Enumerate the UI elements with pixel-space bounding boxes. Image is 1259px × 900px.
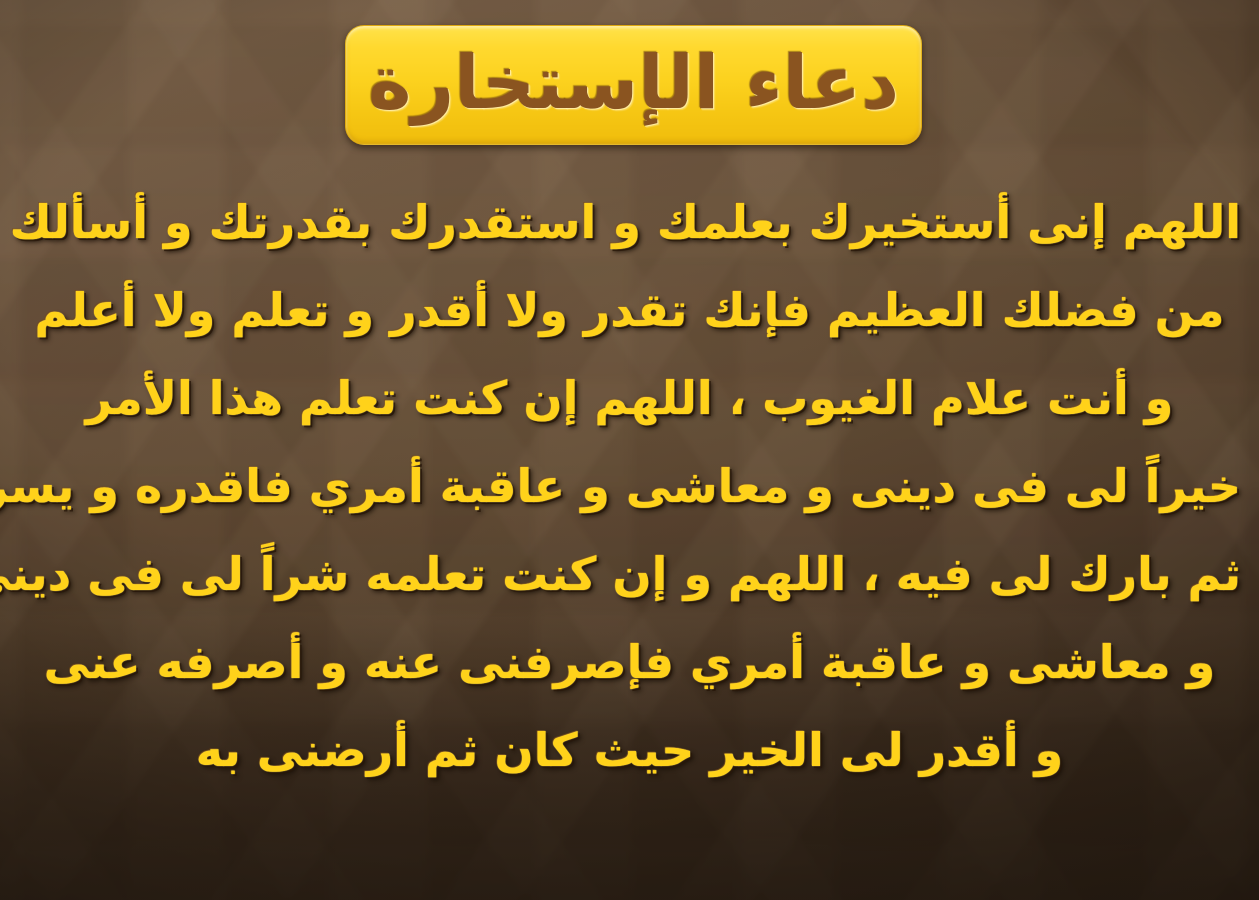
prayer-body: اللهم إنى أستخيرك بعلمك و استقدرك بقدرتك… — [0, 178, 1259, 794]
prayer-line: و أقدر لى الخير حيث كان ثم أرضنى به — [18, 706, 1241, 794]
card-content: دعاء الإستخارة اللهم إنى أستخيرك بعلمك و… — [0, 0, 1259, 900]
prayer-line: من فضلك العظيم فإنك تقدر ولا أقدر و تعلم… — [18, 266, 1241, 354]
prayer-line: و معاشى و عاقبة أمري فإصرفنى عنه و أصرفه… — [18, 618, 1241, 706]
prayer-line: ثم بارك لى فيه ، اللهم و إن كنت تعلمه شر… — [18, 530, 1241, 618]
prayer-line: اللهم إنى أستخيرك بعلمك و استقدرك بقدرتك… — [18, 178, 1241, 266]
page-title: دعاء الإستخارة — [368, 46, 899, 120]
title-badge: دعاء الإستخارة — [345, 25, 922, 145]
prayer-line: خيراً لى فى دينى و معاشى و عاقبة أمري فا… — [18, 442, 1241, 530]
prayer-line: و أنت علام الغيوب ، اللهم إن كنت تعلم هذ… — [18, 354, 1241, 442]
dua-istikhara-card: دعاء الإستخارة اللهم إنى أستخيرك بعلمك و… — [0, 0, 1259, 900]
